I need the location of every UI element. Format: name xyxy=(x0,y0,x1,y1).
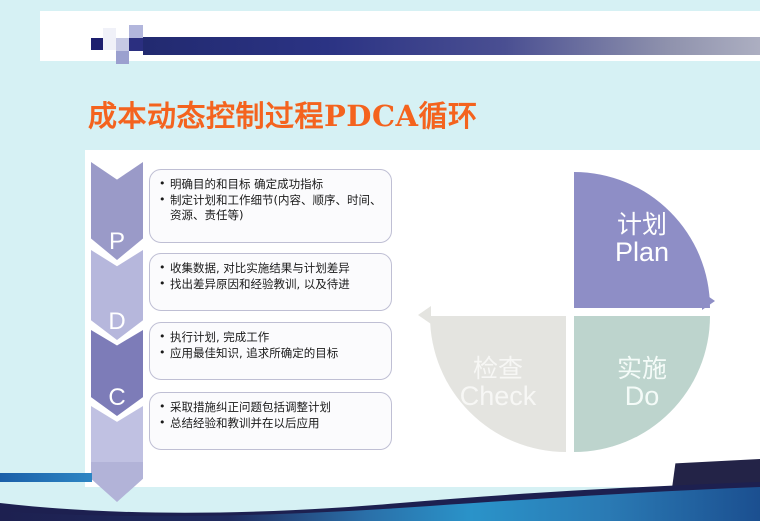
footer-wave-icon xyxy=(0,459,760,521)
pdca-chevron-column: P D C A xyxy=(85,162,147,482)
step-textbox-c[interactable]: 执行计划, 完成工作 应用最佳知识, 追求所确定的目标 xyxy=(149,322,392,380)
arrow-nib-check-icon xyxy=(418,306,431,324)
header-band xyxy=(40,11,760,61)
bullet-list-p: 明确目的和目标 确定成功指标 制定计划和工作细节(内容、顺序、时间、资源、责任等… xyxy=(154,177,383,223)
step-textbox-p[interactable]: 明确目的和目标 确定成功指标 制定计划和工作细节(内容、顺序、时间、资源、责任等… xyxy=(149,169,392,243)
chevron-step-d[interactable]: D xyxy=(91,250,143,340)
pdca-wheel-diagram: 计划 Plan 实施 Do 检查 Check xyxy=(430,172,710,452)
list-item: 应用最佳知识, 追求所确定的目标 xyxy=(154,346,383,361)
wheel-quadrant-check-cn: 检查 xyxy=(473,356,523,382)
header-square-mid xyxy=(116,51,129,64)
list-item: 总结经验和教训并在以后应用 xyxy=(154,416,383,431)
list-item: 明确目的和目标 确定成功指标 xyxy=(154,177,383,192)
header-square-navy-1 xyxy=(91,38,103,50)
bullet-list-d: 收集数据, 对比实施结果与计划差异 找出差异原因和经验教训, 以及待进 xyxy=(154,261,383,292)
chevron-label-d: D xyxy=(108,310,125,334)
chevron-label-p: P xyxy=(109,230,125,254)
header-square-navy-2 xyxy=(129,38,143,51)
wheel-quadrant-do-cn: 实施 xyxy=(617,356,667,382)
wheel-quadrant-do-en: Do xyxy=(625,382,660,412)
list-item: 执行计划, 完成工作 xyxy=(154,330,383,345)
chevron-label-c: C xyxy=(108,386,125,410)
page-title: 成本动态控制过程PDCA循环 xyxy=(88,93,478,135)
header-square-light xyxy=(129,25,143,38)
list-item: 制定计划和工作细节(内容、顺序、时间、资源、责任等) xyxy=(154,193,383,223)
header-gradient-bar xyxy=(143,37,760,55)
wheel-quadrant-plan-cn: 计划 xyxy=(617,212,667,238)
wheel-quadrant-check-en: Check xyxy=(460,382,537,412)
list-item: 找出差异原因和经验教训, 以及待进 xyxy=(154,277,383,292)
wheel-quadrant-check[interactable]: 检查 Check xyxy=(430,316,566,452)
step-textbox-d[interactable]: 收集数据, 对比实施结果与计划差异 找出差异原因和经验教训, 以及待进 xyxy=(149,253,392,311)
slide-canvas: 成本动态控制过程PDCA循环 P D C A 明确目的和目标 确定成功指标 制定… xyxy=(0,0,760,521)
header-square-fade xyxy=(103,28,116,50)
header-square-pale xyxy=(116,38,129,51)
bullet-list-c: 执行计划, 完成工作 应用最佳知识, 追求所确定的目标 xyxy=(154,330,383,361)
wheel-quadrant-plan-en: Plan xyxy=(615,238,669,268)
content-panel: P D C A 明确目的和目标 确定成功指标 制定计划和工作细节(内容、顺序、时… xyxy=(85,150,760,487)
wheel-quadrant-do[interactable]: 实施 Do xyxy=(574,316,710,452)
header-square-white-2 xyxy=(116,25,129,38)
list-item: 采取措施纠正问题包括调整计划 xyxy=(154,400,383,415)
chevron-step-p[interactable]: P xyxy=(91,162,143,260)
wheel-quadrant-plan[interactable]: 计划 Plan xyxy=(574,172,710,308)
step-textbox-a[interactable]: 采取措施纠正问题包括调整计划 总结经验和教训并在以后应用 xyxy=(149,392,392,450)
list-item: 收集数据, 对比实施结果与计划差异 xyxy=(154,261,383,276)
chevron-step-c[interactable]: C xyxy=(91,330,143,416)
bullet-list-a: 采取措施纠正问题包括调整计划 总结经验和教训并在以后应用 xyxy=(154,400,383,431)
footer-decoration xyxy=(0,459,760,521)
